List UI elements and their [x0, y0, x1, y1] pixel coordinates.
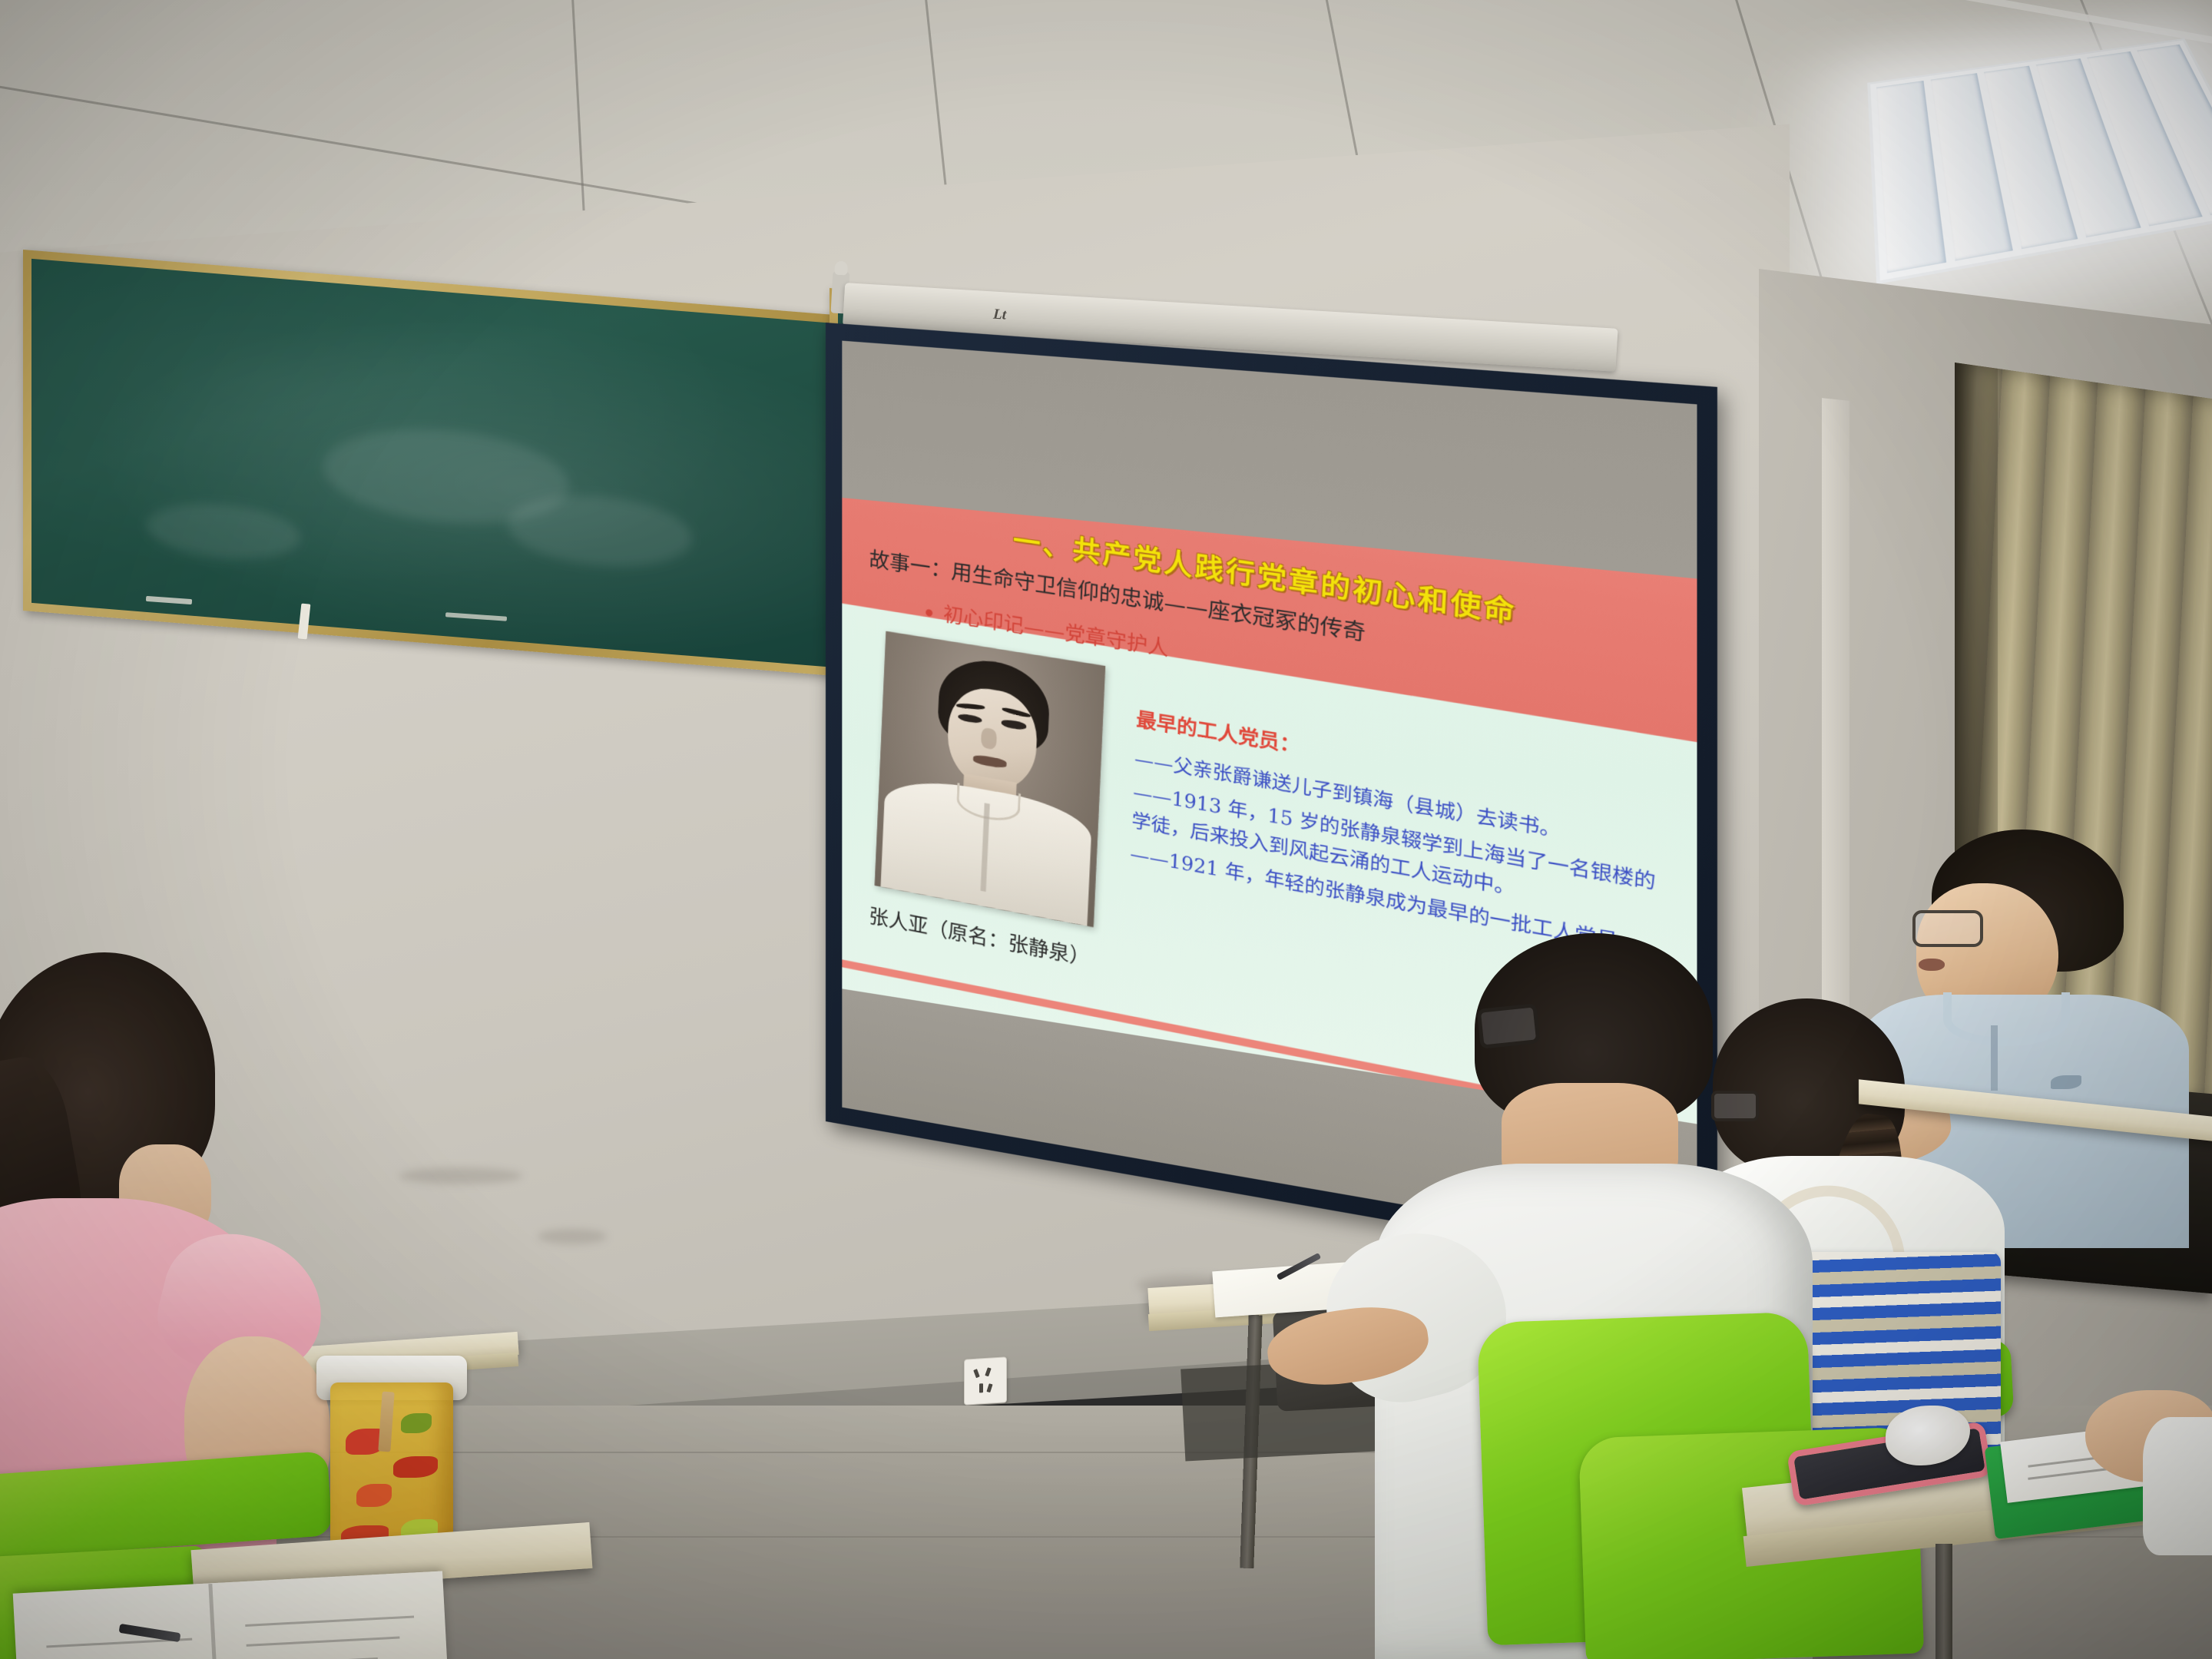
door-jamb	[1822, 398, 1849, 1092]
sleeve	[2143, 1417, 2212, 1555]
blackboard	[23, 250, 837, 676]
slide-portrait-photo	[874, 631, 1105, 928]
glasses-icon	[1912, 910, 1983, 947]
bullet-dot-icon	[926, 609, 932, 617]
blackboard-frame	[23, 250, 837, 676]
desk-leg	[1936, 1544, 1952, 1659]
classroom-photo: Lt 一、共产党人践行党章的初心和使命 故事一：用生命守卫信仰的忠诚——座衣冠冢…	[0, 0, 2212, 1659]
glasses-icon	[1476, 1003, 1540, 1049]
polo-logo-icon	[2051, 1075, 2081, 1089]
blackboard-face	[31, 259, 829, 667]
screen-brand-label: Lt	[993, 306, 1007, 324]
slide-body-block: 最早的工人党员： ——父亲张爵谦送儿子到镇海（县城）去读书。 ——1913 年，…	[1129, 704, 1677, 972]
wall-socket-icon	[964, 1356, 1007, 1405]
